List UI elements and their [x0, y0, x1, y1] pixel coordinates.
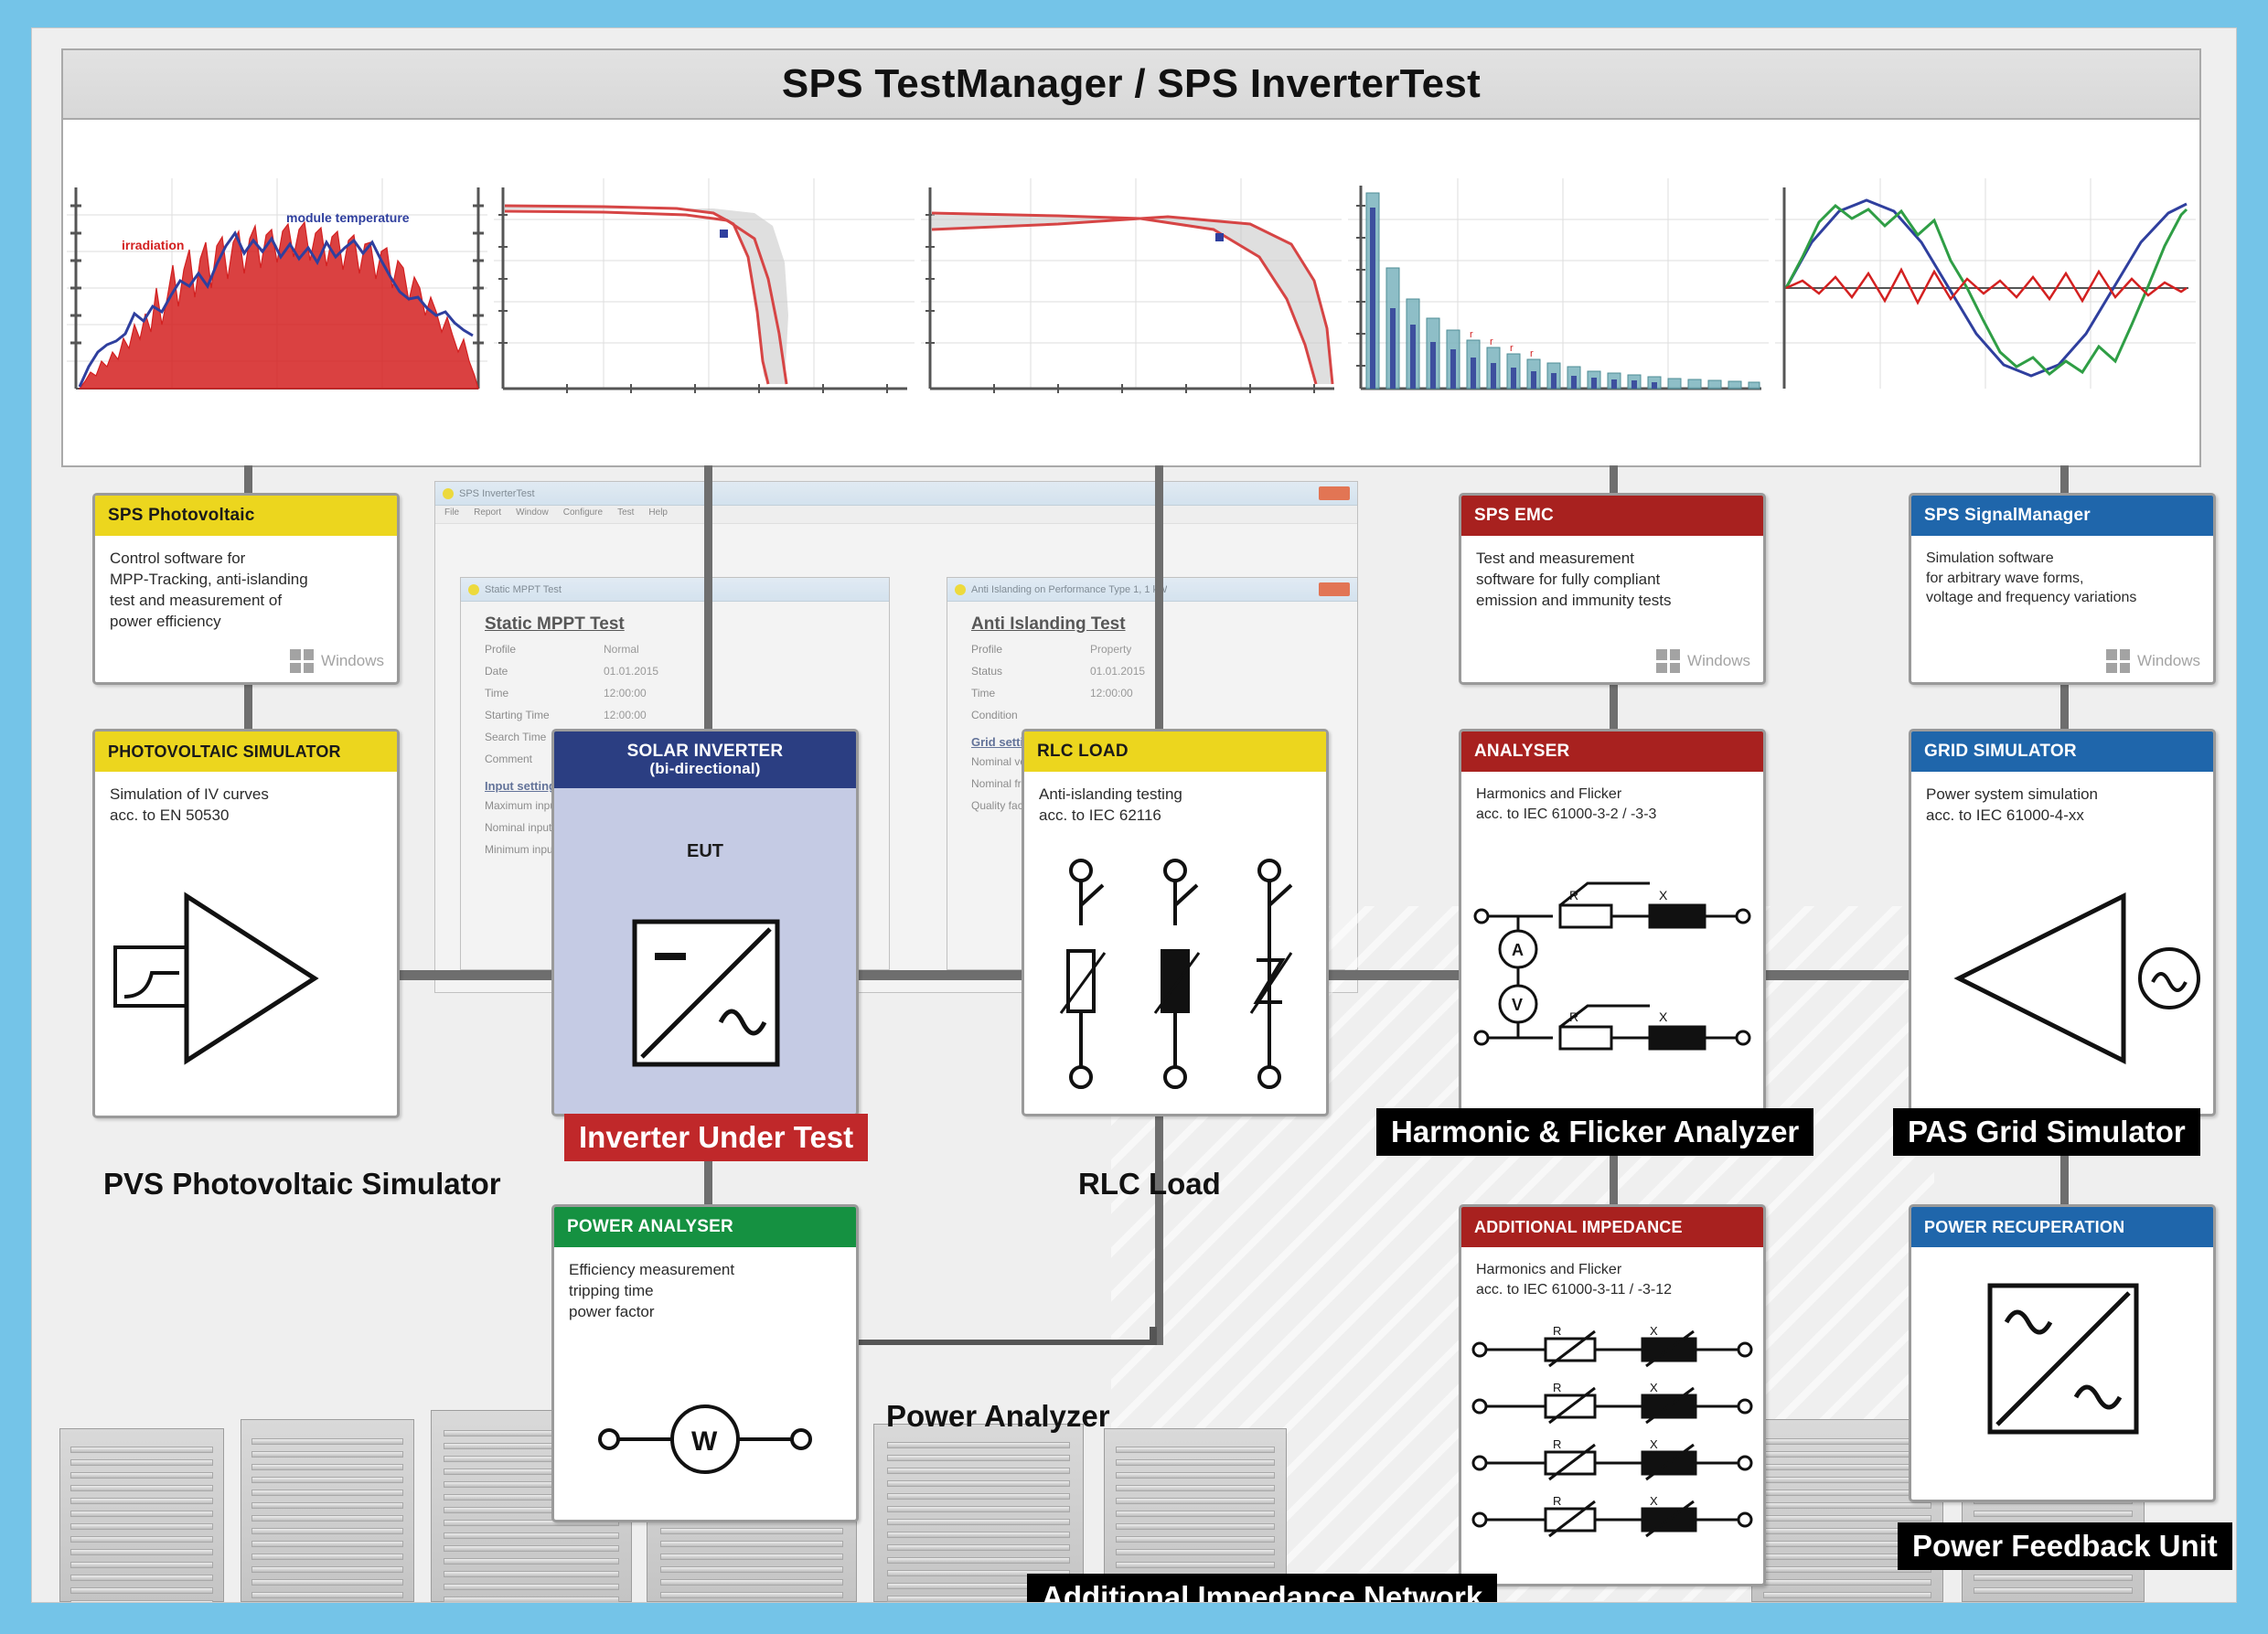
close-icon[interactable]	[1319, 582, 1350, 596]
outer-frame: SPS InverterTest File Report Window Conf…	[0, 0, 2268, 1634]
card-title: ADDITIONAL IMPEDANCE	[1474, 1219, 1683, 1236]
svg-text:r: r	[1530, 348, 1534, 359]
card-line: Simulation software	[1926, 549, 2198, 569]
callout-pas-grid-simulator: PAS Grid Simulator	[1893, 1108, 2200, 1156]
svg-text:r: r	[1510, 343, 1514, 354]
card-title: SPS EMC	[1474, 507, 1554, 525]
connector-emc-sw	[1610, 465, 1618, 495]
svg-text:V: V	[1512, 996, 1523, 1014]
svg-text:R: R	[1569, 1009, 1578, 1024]
connector-pv-sw	[244, 465, 252, 495]
software-card-sps-photovoltaic[interactable]: SPS Photovoltaic Control software for MP…	[92, 493, 400, 685]
window-title: SPS InverterTest	[459, 488, 535, 499]
card-title: GRID SIMULATOR	[1924, 742, 2077, 761]
svg-text:X: X	[1650, 1494, 1658, 1508]
grid-simulator-symbol-icon	[1911, 878, 2213, 1088]
card-header: SPS Photovoltaic	[95, 496, 397, 536]
field-value: 12:00:00	[1090, 687, 1133, 700]
card-header: RLC LOAD	[1024, 732, 1326, 772]
card-line: acc. to IEC 61000-3-11 / -3-12	[1476, 1280, 1749, 1300]
card-line: Test and measurement	[1476, 549, 1749, 570]
app-icon	[468, 584, 479, 595]
svg-text:X: X	[1659, 888, 1668, 902]
field-label: Date	[485, 665, 585, 678]
iv-curve-chart	[494, 178, 915, 407]
menu-item-help[interactable]: Help	[648, 507, 668, 521]
chart-strip: irradiation module temperature	[61, 120, 2201, 467]
device-card-photovoltaic-simulator[interactable]: PHOTOVOLTAIC SIMULATOR Simulation of IV …	[92, 729, 400, 1118]
field-value: Property	[1090, 643, 1131, 656]
field-label: Profile	[971, 643, 1072, 656]
svg-text:X: X	[1650, 1324, 1658, 1338]
windows-icon	[2106, 649, 2130, 673]
window-titlebar: SPS InverterTest	[435, 482, 1357, 506]
card-line: Control software for	[110, 549, 382, 570]
rack-unit	[59, 1428, 224, 1602]
card-line: for arbitrary wave forms,	[1926, 569, 2198, 589]
field-value: 01.01.2015	[604, 665, 658, 678]
windows-logo: Windows	[1656, 649, 1750, 673]
card-line: voltage and frequency variations	[1926, 588, 2198, 608]
chart-marker-mpp	[1215, 233, 1224, 241]
device-card-solar-inverter[interactable]: SOLAR INVERTER (bi-directional) EUT	[551, 729, 859, 1116]
card-line: power factor	[569, 1302, 841, 1323]
connector-power-analyser-bus	[855, 1340, 1157, 1345]
windows-logo: Windows	[2106, 649, 2200, 673]
card-body: Power system simulation acc. to IEC 6100…	[1911, 772, 2213, 839]
page-title: Static MPPT Test	[461, 602, 889, 638]
connector-inverter-top	[704, 465, 712, 731]
field-label: Time	[971, 687, 1072, 700]
field-row: Status 01.01.2015	[947, 660, 1357, 682]
card-header: POWER ANALYSER	[554, 1207, 856, 1247]
field-value: Normal	[604, 643, 639, 656]
card-title: SPS Photovoltaic	[108, 507, 255, 525]
svg-text:A: A	[1512, 941, 1524, 959]
callout-power-analyzer: Power Analyzer	[872, 1393, 1125, 1440]
svg-text:R: R	[1553, 1381, 1561, 1394]
field-row: Profile Property	[947, 638, 1357, 660]
callout-additional-impedance-network: Additional Impedance Network	[1027, 1574, 1497, 1603]
window-title: Static MPPT Test	[485, 584, 562, 595]
field-row: Date 01.01.2015	[461, 660, 889, 682]
card-header: GRID SIMULATOR	[1911, 732, 2213, 772]
pv-power-curve-chart	[921, 178, 1342, 407]
software-card-sps-signalmanager[interactable]: SPS SignalManager Simulation software fo…	[1909, 493, 2216, 685]
card-body: Simulation software for arbitrary wave f…	[1911, 536, 2213, 621]
svg-text:R: R	[1569, 888, 1578, 902]
impedance-network-icon: RX RX RX RX	[1461, 1320, 1763, 1586]
page-title: Anti Islanding Test	[947, 602, 1357, 638]
svg-text:R: R	[1553, 1494, 1561, 1508]
connector-rlc-top	[1155, 465, 1163, 729]
card-header: SPS SignalManager	[1911, 496, 2213, 536]
eut-label: EUT	[554, 841, 856, 862]
field-row: Profile Normal	[461, 638, 889, 660]
svg-text:X: X	[1659, 1009, 1668, 1024]
card-line: Simulation of IV curves	[110, 785, 382, 806]
card-title: ANALYSER	[1474, 742, 1569, 761]
device-card-power-analyser[interactable]: POWER ANALYSER Efficiency measurement tr…	[551, 1204, 859, 1522]
callout-text: Power Feedback Unit	[1912, 1529, 2218, 1563]
callout-text: Inverter Under Test	[579, 1120, 853, 1154]
window-title: Anti Islanding on Performance Type 1, 1 …	[971, 584, 1167, 595]
menu-item-window[interactable]: Window	[516, 507, 549, 521]
callout-harmonic-flicker-analyzer: Harmonic & Flicker Analyzer	[1376, 1108, 1813, 1156]
analyser-circuit-icon: A V R X R X	[1461, 869, 1763, 1097]
card-line: tripping time	[569, 1281, 841, 1302]
windows-logo: Windows	[290, 649, 384, 673]
card-line: Power system simulation	[1926, 785, 2198, 806]
card-subtitle: (bi-directional)	[649, 761, 760, 777]
device-card-rlc-load[interactable]: RLC LOAD Anti-islanding testing acc. to …	[1022, 729, 1329, 1116]
card-body: Harmonics and Flicker acc. to IEC 61000-…	[1461, 1247, 1763, 1312]
callout-text: PVS Photovoltaic Simulator	[103, 1167, 501, 1201]
app-icon	[443, 488, 454, 499]
menu-item-configure[interactable]: Configure	[563, 507, 603, 521]
card-body: Efficiency measurement tripping time pow…	[554, 1247, 856, 1336]
connector-rlc-bottom	[1150, 1327, 1157, 1345]
windows-label: Windows	[321, 652, 384, 670]
card-title: RLC LOAD	[1037, 742, 1129, 761]
card-header: PHOTOVOLTAIC SIMULATOR	[95, 732, 397, 772]
callout-pvs-photovoltaic-simulator: PVS Photovoltaic Simulator	[89, 1160, 516, 1208]
card-body: Control software for MPP-Tracking, anti-…	[95, 536, 397, 646]
window-titlebar: Anti Islanding on Performance Type 1, 1 …	[947, 578, 1357, 602]
card-line: MPP-Tracking, anti-islanding	[110, 570, 382, 591]
connector-signal-sw	[2060, 465, 2069, 495]
harmonics-bar-chart: rr rr	[1348, 178, 1769, 407]
chart-annotation-module-temperature: module temperature	[286, 210, 410, 225]
svg-text:X: X	[1650, 1437, 1658, 1451]
rack-unit	[241, 1419, 414, 1602]
windows-icon	[1656, 649, 1680, 673]
field-row: Starting Time 12:00:00	[461, 704, 889, 726]
card-line: acc. to IEC 61000-3-2 / -3-3	[1476, 805, 1749, 825]
diagram-title-bar: SPS TestManager / SPS InverterTest	[61, 48, 2201, 120]
device-card-analyser[interactable]: ANALYSER Harmonics and Flicker acc. to I…	[1459, 729, 1766, 1116]
svg-text:X: X	[1650, 1381, 1658, 1394]
waveform-chart	[1775, 178, 2196, 407]
field-row: Time 12:00:00	[461, 682, 889, 704]
chart-marker-mpp	[720, 230, 728, 238]
card-header: POWER RECUPERATION	[1911, 1207, 2213, 1247]
card-line: Harmonics and Flicker	[1476, 785, 1749, 805]
callout-text: Additional Impedance Network	[1042, 1580, 1482, 1603]
field-label: Status	[971, 665, 1072, 678]
diagram-canvas: SPS InverterTest File Report Window Conf…	[31, 27, 2237, 1603]
callout-power-feedback-unit: Power Feedback Unit	[1898, 1522, 2232, 1570]
page-title: SPS TestManager / SPS InverterTest	[782, 61, 1481, 107]
callout-rlc-load: RLC Load	[1064, 1160, 1236, 1208]
irradiation-temperature-chart: irradiation module temperature	[67, 178, 487, 407]
card-body: Simulation of IV curves acc. to EN 50530	[95, 772, 397, 839]
app-icon	[955, 584, 966, 595]
field-label: Starting Time	[485, 709, 585, 721]
connector-rlc-down	[1155, 1116, 1163, 1345]
card-line: test and measurement of	[110, 591, 382, 612]
card-line: acc. to EN 50530	[110, 806, 382, 827]
card-body: Anti-islanding testing acc. to IEC 62116	[1024, 772, 1326, 839]
card-title: POWER RECUPERATION	[1924, 1219, 2124, 1236]
windows-label: Windows	[2137, 652, 2200, 670]
card-line: Anti-islanding testing	[1039, 785, 1311, 806]
recuperation-symbol-icon	[1911, 1262, 2213, 1472]
callout-text: Power Analyzer	[886, 1399, 1110, 1433]
field-label: Profile	[485, 643, 585, 656]
card-header: SPS EMC	[1461, 496, 1763, 536]
field-value: 01.01.2015	[1090, 665, 1145, 678]
card-title: PHOTOVOLTAIC SIMULATOR	[108, 743, 341, 761]
menu-item-report[interactable]: Report	[474, 507, 501, 521]
inverter-symbol-icon	[554, 911, 856, 1084]
pv-simulator-symbol-icon	[95, 878, 397, 1088]
device-card-power-recuperation[interactable]: POWER RECUPERATION	[1909, 1204, 2216, 1502]
field-row: Time 12:00:00	[947, 682, 1357, 704]
close-icon[interactable]	[1319, 486, 1350, 500]
card-line: acc. to IEC 61000-4-xx	[1926, 806, 2198, 827]
card-line: emission and immunity tests	[1476, 591, 1749, 612]
windows-icon	[290, 649, 314, 673]
card-header: SOLAR INVERTER (bi-directional)	[554, 732, 856, 788]
field-label: Time	[485, 687, 585, 700]
callout-text: RLC Load	[1078, 1167, 1221, 1201]
card-title: SOLAR INVERTER	[627, 742, 784, 761]
field-label: Condition	[971, 709, 1072, 721]
field-value: 12:00:00	[604, 709, 647, 721]
svg-text:R: R	[1553, 1437, 1561, 1451]
callout-inverter-under-test: Inverter Under Test	[564, 1114, 868, 1161]
rlc-load-symbol-icon	[1024, 850, 1326, 1097]
windows-label: Windows	[1687, 652, 1750, 670]
callout-text: PAS Grid Simulator	[1908, 1115, 2186, 1148]
card-title: POWER ANALYSER	[567, 1218, 733, 1236]
svg-text:R: R	[1553, 1324, 1561, 1338]
card-line: acc. to IEC 62116	[1039, 806, 1311, 827]
window-titlebar: Static MPPT Test	[461, 578, 889, 602]
card-line: software for fully compliant	[1476, 570, 1749, 591]
software-card-sps-emc[interactable]: SPS EMC Test and measurement software fo…	[1459, 493, 1766, 685]
svg-text:r: r	[1470, 329, 1473, 340]
wattmeter-symbol-icon: W	[554, 1386, 856, 1496]
svg-text:W: W	[691, 1426, 718, 1457]
card-header: ADDITIONAL IMPEDANCE	[1461, 1207, 1763, 1247]
card-body: Harmonics and Flicker acc. to IEC 61000-…	[1461, 772, 1763, 837]
menu-bar[interactable]: File Report Window Configure Test Help	[435, 506, 1357, 524]
svg-text:r: r	[1490, 336, 1493, 347]
menu-item-file[interactable]: File	[444, 507, 459, 521]
callout-text: Harmonic & Flicker Analyzer	[1391, 1115, 1799, 1148]
card-line: Efficiency measurement	[569, 1260, 841, 1281]
card-title: SPS SignalManager	[1924, 507, 2091, 525]
device-card-grid-simulator[interactable]: GRID SIMULATOR Power system simulation a…	[1909, 729, 2216, 1116]
card-header: ANALYSER	[1461, 732, 1763, 772]
device-card-additional-impedance[interactable]: ADDITIONAL IMPEDANCE Harmonics and Flick…	[1459, 1204, 1766, 1586]
card-body: Test and measurement software for fully …	[1461, 536, 1763, 625]
card-line: Harmonics and Flicker	[1476, 1260, 1749, 1280]
field-value: 12:00:00	[604, 687, 647, 700]
card-line: power efficiency	[110, 612, 382, 633]
menu-item-test[interactable]: Test	[617, 507, 634, 521]
field-row: Condition	[947, 704, 1357, 726]
chart-annotation-irradiation: irradiation	[122, 238, 184, 252]
